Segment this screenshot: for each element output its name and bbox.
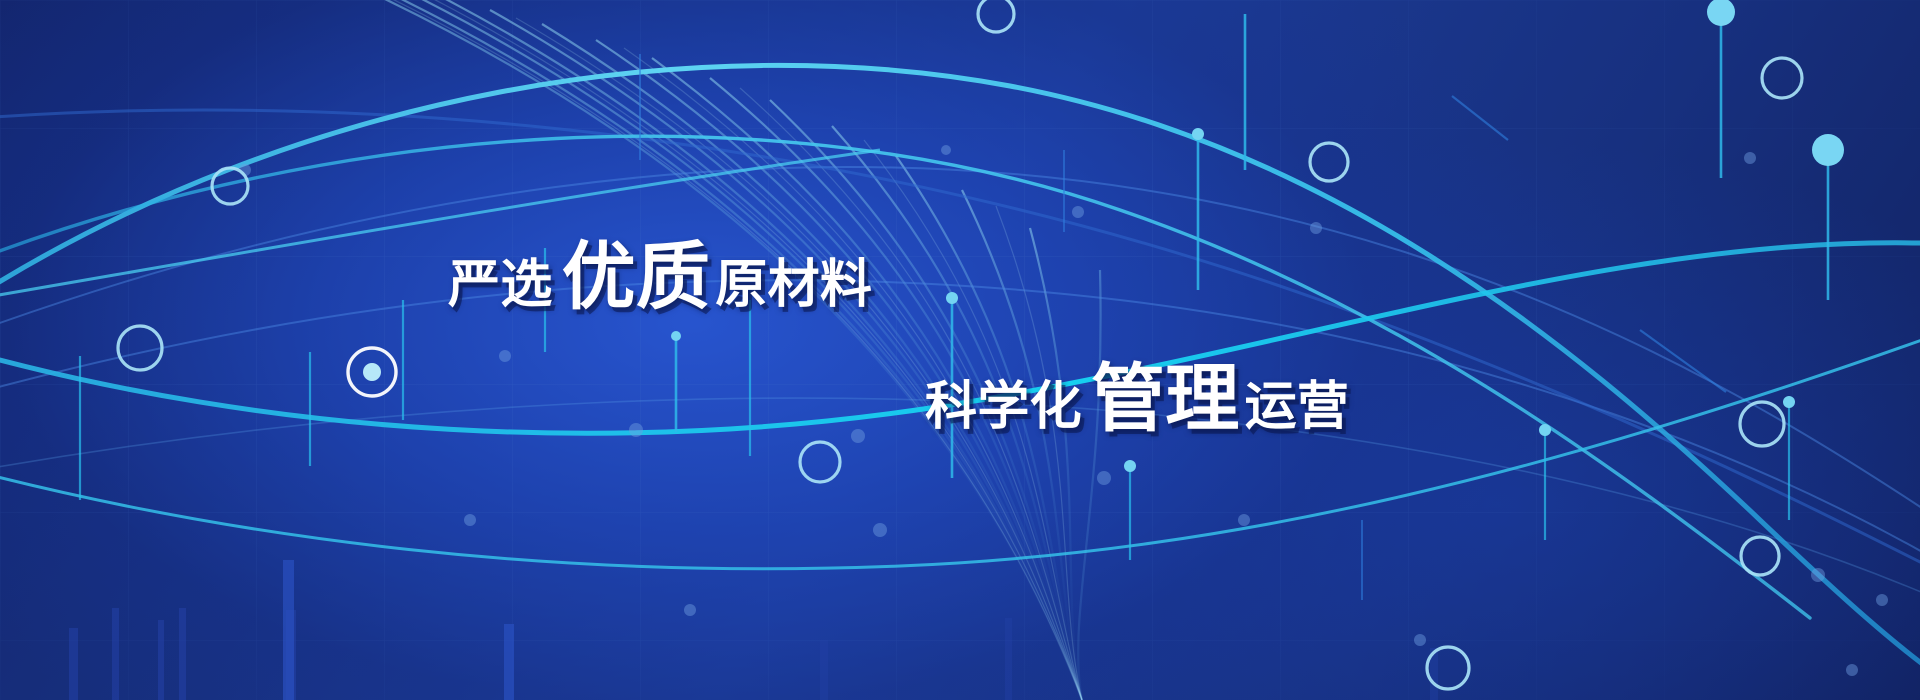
promo-banner: 严选优质原材料 科学化管理运营 <box>0 0 1920 700</box>
node-decorations <box>0 0 1920 700</box>
ring-with-core <box>348 348 396 396</box>
